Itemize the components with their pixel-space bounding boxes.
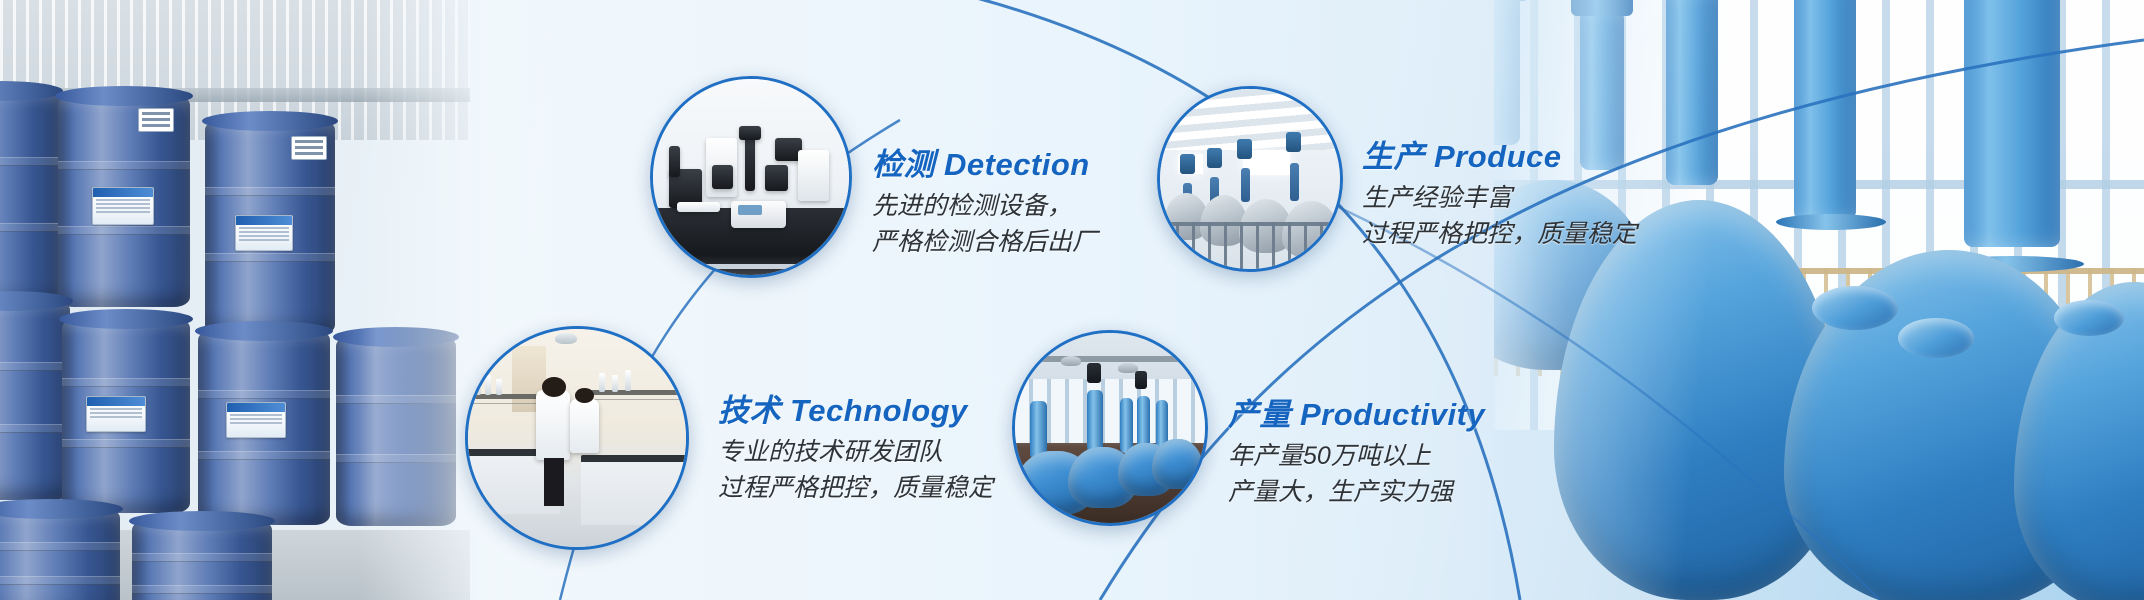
feature-text-technology: 技术Technology 专业的技术研发团队 过程严格把控，质量稳定 — [718, 394, 993, 506]
drum-label — [235, 215, 293, 251]
feature-photo-technology[interactable] — [465, 326, 689, 550]
scene-rnd-laboratory — [468, 329, 686, 547]
photo-blue-reactors — [1494, 0, 2144, 600]
feature-line: 年产量50万吨以上 — [1228, 439, 1485, 475]
reactor-hatch — [2054, 300, 2124, 336]
capability-banner: 检测Detection 先进的检测设备， 严格检测合格后出厂 生产Produce… — [0, 0, 2144, 600]
feature-line: 先进的检测设备， — [872, 189, 1097, 225]
drum-label — [92, 187, 154, 225]
feature-line: 过程严格把控，质量稳定 — [718, 471, 993, 507]
feature-line: 专业的技术研发团队 — [718, 435, 993, 471]
reactor-hatch — [1812, 286, 1898, 330]
feature-title-technology: 技术Technology — [718, 394, 993, 428]
drum — [0, 300, 70, 500]
drum — [198, 330, 330, 525]
feature-title-cn: 检测 — [872, 147, 935, 182]
feature-title-cn: 生产 — [1362, 139, 1425, 174]
feature-title-en: Productivity — [1300, 397, 1485, 432]
drum-label — [86, 396, 146, 432]
drum — [205, 120, 335, 335]
feature-line: 过程严格把控，质量稳定 — [1362, 217, 1637, 253]
drum-label — [226, 402, 286, 438]
drum-tag — [291, 136, 327, 160]
drum — [62, 318, 190, 513]
feature-title-en: Technology — [790, 393, 968, 428]
feature-title-en: Detection — [944, 147, 1090, 182]
reactor-column — [1794, 0, 1856, 220]
drum — [132, 520, 272, 600]
feature-title-en: Produce — [1434, 139, 1562, 174]
scene-production-hall — [1160, 89, 1340, 269]
reactor-column — [1666, 0, 1718, 185]
feature-title-cn: 技术 — [718, 393, 781, 428]
reactor-flange — [1776, 214, 1886, 230]
reactor-hatch — [1898, 318, 1974, 358]
feature-line: 产量大，生产实力强 — [1228, 475, 1485, 511]
feature-photo-productivity[interactable] — [1012, 330, 1208, 526]
drum — [58, 95, 190, 307]
feature-title-produce: 生产Produce — [1362, 140, 1637, 174]
reactor-column — [1494, 0, 1520, 145]
scene-detection-lab — [653, 79, 849, 275]
feature-line: 严格检测合格后出厂 — [872, 225, 1097, 261]
feature-text-productivity: 产量Productivity 年产量50万吨以上 产量大，生产实力强 — [1228, 398, 1485, 510]
drum — [0, 508, 120, 600]
feature-text-detection: 检测Detection 先进的检测设备， 严格检测合格后出厂 — [872, 148, 1097, 260]
drum-tag — [138, 108, 174, 132]
drum — [336, 336, 456, 526]
feature-line: 生产经验丰富 — [1362, 181, 1637, 217]
feature-text-produce: 生产Produce 生产经验丰富 过程严格把控，质量稳定 — [1362, 140, 1637, 252]
photo-blue-drums — [0, 0, 470, 600]
feature-title-cn: 产量 — [1228, 397, 1291, 432]
reactor-column — [1964, 0, 2060, 247]
drum — [0, 90, 60, 305]
scene-blue-reactors — [1015, 333, 1205, 523]
feature-title-detection: 检测Detection — [872, 148, 1097, 182]
feature-photo-detection[interactable] — [650, 76, 852, 278]
feature-photo-produce[interactable] — [1157, 86, 1343, 272]
feature-title-productivity: 产量Productivity — [1228, 398, 1485, 432]
